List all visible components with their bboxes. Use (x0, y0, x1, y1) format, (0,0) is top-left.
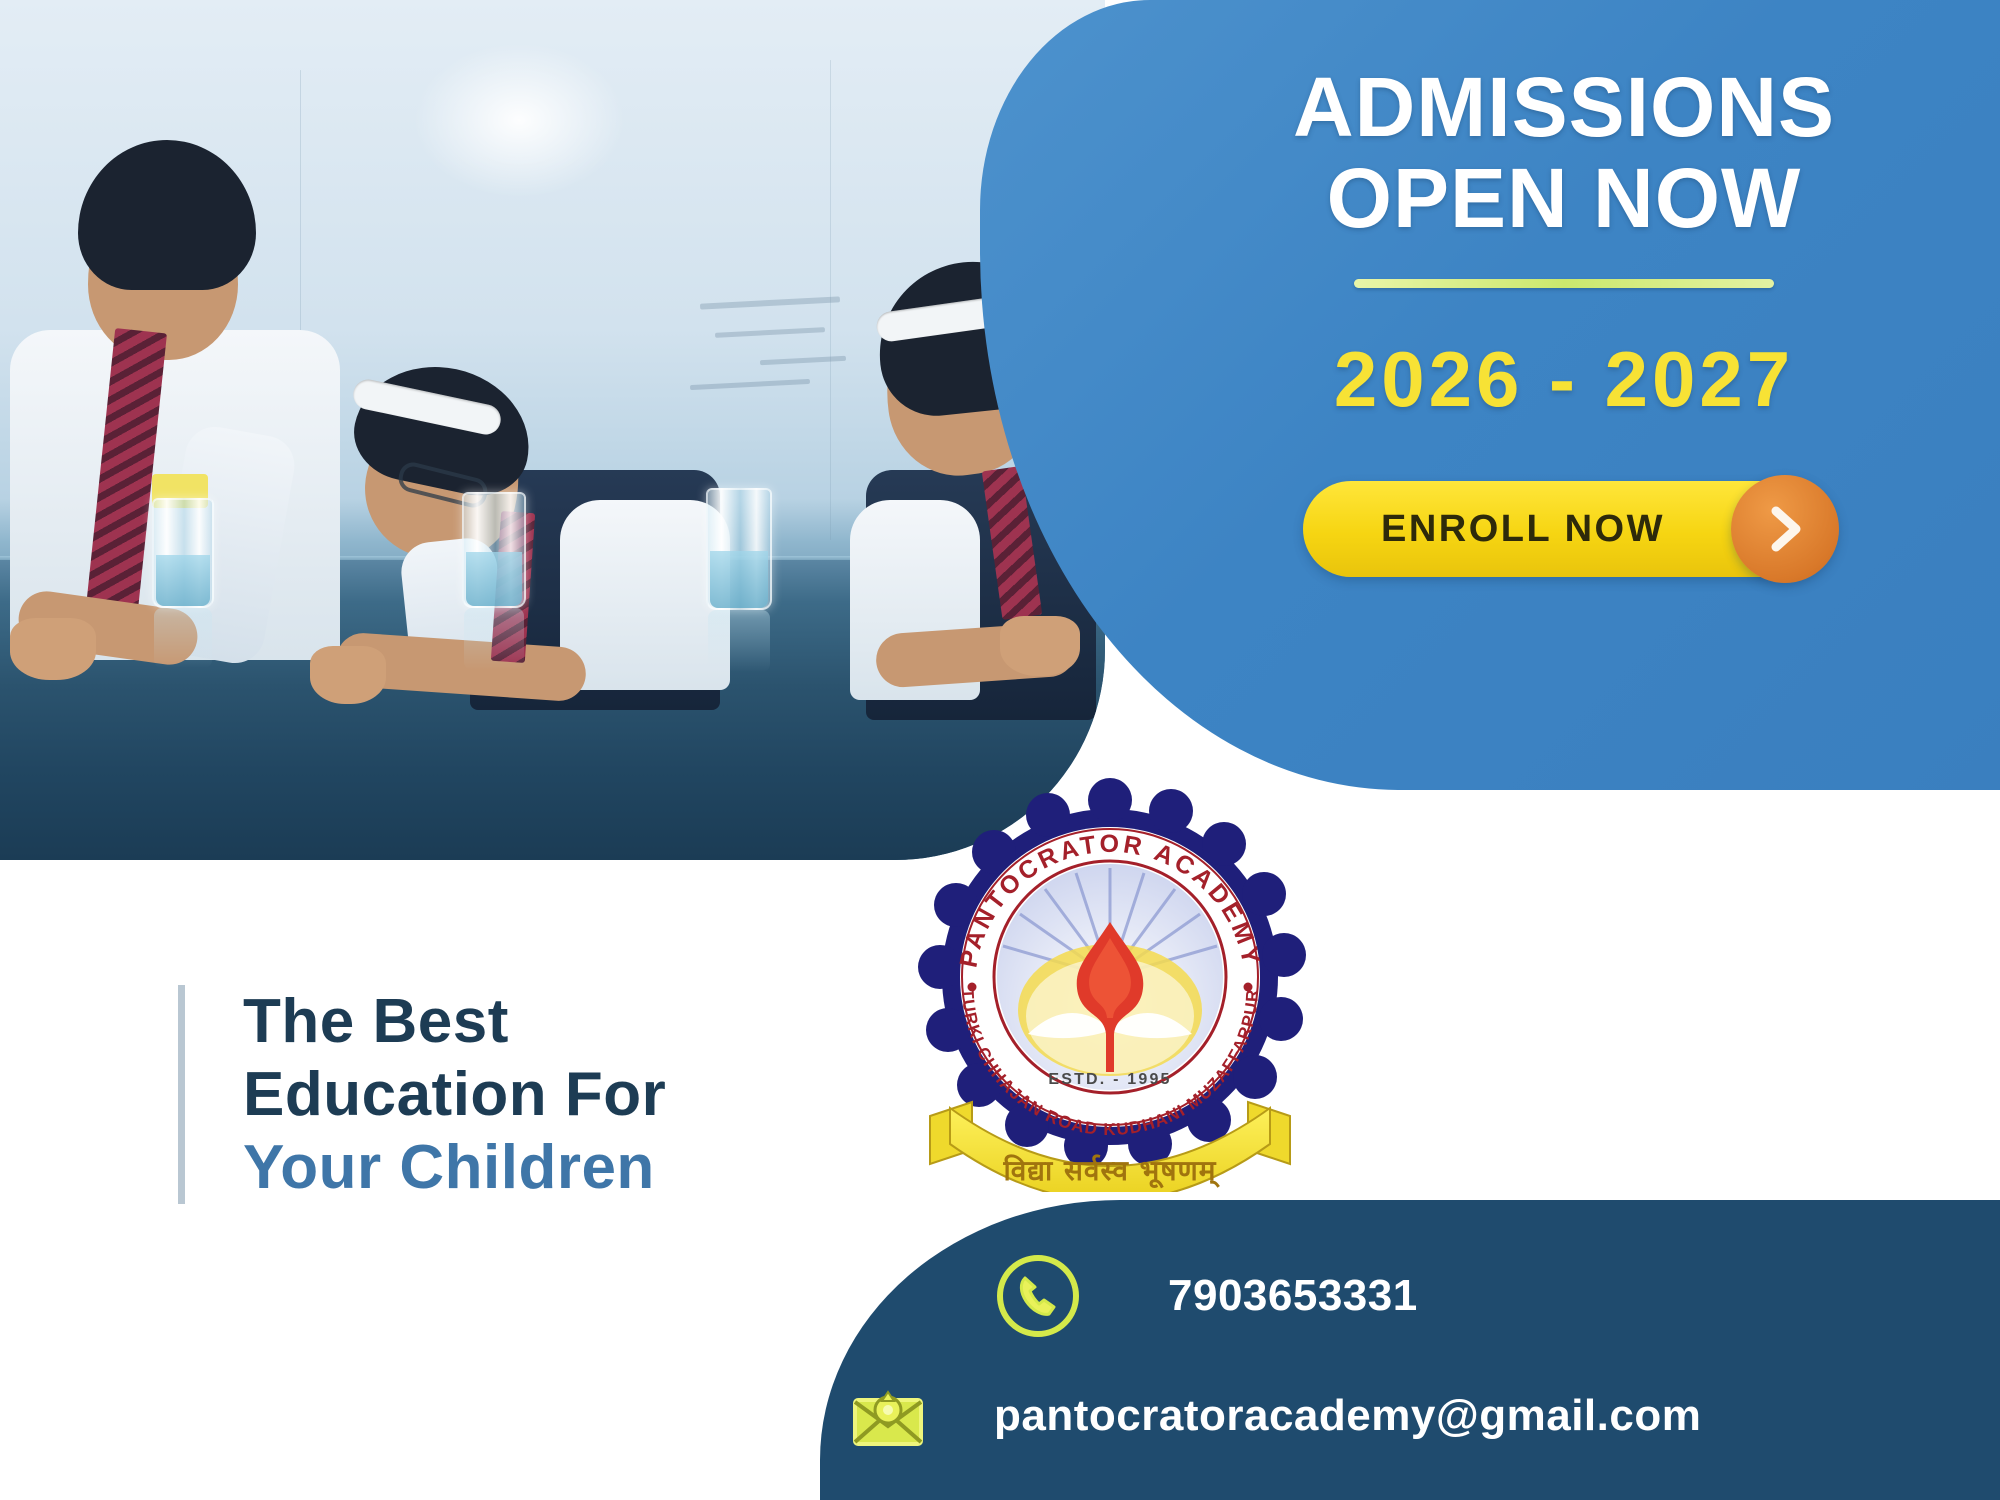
jar-reflection (154, 608, 212, 668)
jar-water (466, 552, 522, 606)
classroom-photo (0, 0, 1105, 860)
glass-jar (152, 498, 214, 608)
phone-circle-icon (990, 1248, 1086, 1344)
glass-jar (706, 488, 772, 610)
tagline-block: The Best Education For Your Children (178, 985, 666, 1204)
admissions-panel: ADMISSIONS OPEN NOW 2026 - 2027 ENROLL N… (980, 0, 2000, 790)
jar-reflection (464, 608, 524, 670)
contact-email-row[interactable]: pantocratoracademy@gmail.com (840, 1368, 1701, 1464)
seal-emblem: ESTD. - 1995 (997, 864, 1223, 1090)
headline-line-1: ADMISSIONS (1180, 62, 1948, 153)
jar-reflection (708, 610, 770, 672)
enroll-now-label: ENROLL NOW (1381, 508, 1665, 551)
whiteboard-mark (830, 60, 831, 540)
glass-jar (462, 492, 526, 608)
student-hand (1000, 616, 1080, 676)
admissions-poster: ADMISSIONS OPEN NOW 2026 - 2027 ENROLL N… (0, 0, 2000, 1500)
tagline-line-2: Education For (243, 1058, 666, 1131)
tagline-line-1: The Best (243, 985, 666, 1058)
seal-ribbon-motto: विद्या सर्वस्व भूषणम् (1002, 1154, 1220, 1189)
contact-phone-row[interactable]: 7903653331 (990, 1248, 1418, 1344)
enroll-now-button[interactable]: ENROLL NOW (1303, 481, 1825, 577)
student-shirt (560, 500, 730, 690)
pantocrator-academy-seal: PANTOCRATOR ACADEMY TURKI CHHAJAN ROAD K… (900, 772, 1320, 1192)
student-hand (310, 646, 386, 704)
chevron-right-icon[interactable] (1731, 475, 1839, 583)
contact-panel: 7903653331 pantocratoracademy@gmail.com (820, 1200, 2000, 1500)
tagline-line-3: Your Children (243, 1131, 666, 1204)
email-address: pantocratoracademy@gmail.com (994, 1391, 1701, 1441)
admissions-headline: ADMISSIONS OPEN NOW (1180, 62, 1948, 243)
jar-water (710, 551, 768, 608)
headline-divider (1354, 279, 1774, 288)
phone-number: 7903653331 (1168, 1271, 1418, 1321)
session-years: 2026 - 2027 (1180, 334, 1948, 425)
envelope-icon (840, 1368, 936, 1464)
headline-line-2: OPEN NOW (1180, 153, 1948, 244)
seal-established-text: ESTD. - 1995 (1048, 1071, 1171, 1088)
jar-water (156, 555, 210, 606)
student-hand (10, 618, 96, 680)
